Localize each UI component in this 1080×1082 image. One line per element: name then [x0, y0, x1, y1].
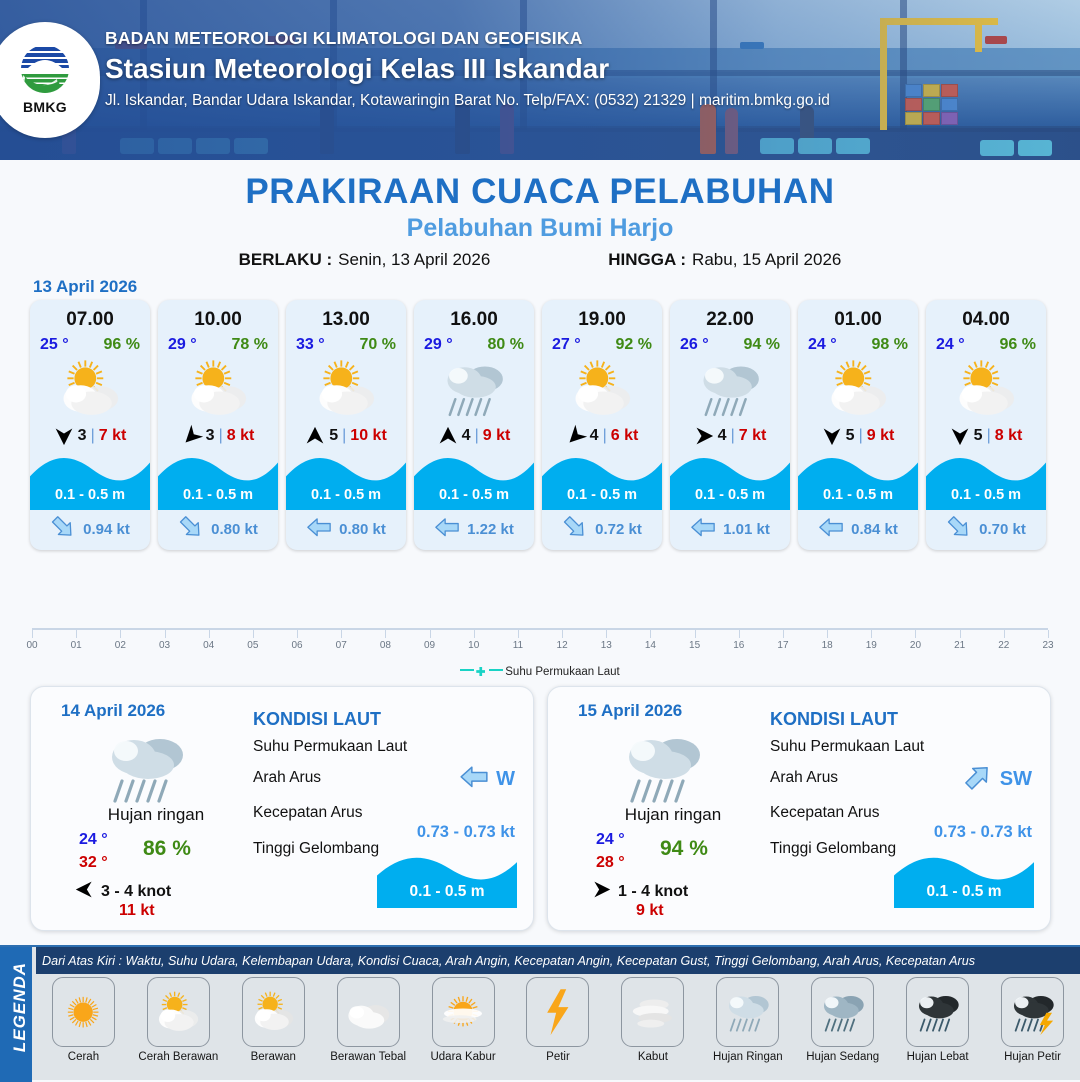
wave-height-value: 0.1 - 0.5 m — [926, 487, 1046, 503]
station-address: Jl. Iskandar, Bandar Udara Iskandar, Kot… — [105, 92, 830, 110]
current-speed-value: 0.70 kt — [979, 521, 1026, 538]
temp-hum-row: 24 ° 98 % — [798, 336, 918, 354]
current-direction-arrow-icon — [690, 517, 716, 542]
legend-item-label: Hujan Sedang — [806, 1051, 879, 1063]
legend-line — [489, 669, 503, 671]
forecast-time: 16.00 — [414, 309, 534, 331]
legend-item-label: Petir — [546, 1051, 570, 1063]
weather-condition-icon — [542, 358, 662, 420]
axis-tick — [253, 630, 254, 638]
legenda-title: LEGENDA — [10, 942, 30, 1072]
axis-tick-label: 06 — [291, 640, 302, 651]
forecast-card[interactable]: 22.00 26 ° 94 % 4 | 7 kt 0.1 - 0.5 m 1.0… — [670, 300, 790, 550]
day-wave-height-value: 0.1 - 0.5 m — [377, 883, 517, 901]
temp-hum-row: 27 ° 92 % — [542, 336, 662, 354]
wave-height-value: 0.1 - 0.5 m — [414, 487, 534, 503]
humidity-value: 96 % — [104, 336, 140, 354]
axis-tick-label: 12 — [557, 640, 568, 651]
legend-item: Berawan — [226, 977, 321, 1063]
day-gust-value: 9 kt — [636, 902, 664, 920]
day-current-direction-text: SW — [1000, 768, 1032, 791]
chart-legend: Suhu Permukaan Laut — [0, 666, 1080, 678]
current-direction-arrow-icon — [562, 517, 588, 542]
day-wind-row: 3 - 4 knot — [75, 880, 171, 904]
axis-tick-label: 07 — [336, 640, 347, 651]
temperature-value: 26 ° — [680, 336, 709, 354]
current-speed-value: 0.80 kt — [211, 521, 258, 538]
label-current-speed: Kecepatan Arus — [253, 804, 362, 822]
legend-icon-hujan-ringan — [716, 977, 779, 1047]
temp-hum-row: 29 ° 78 % — [158, 336, 278, 354]
humidity-value: 94 % — [744, 336, 780, 354]
temperature-value: 29 ° — [168, 336, 197, 354]
forecast-card[interactable]: 10.00 29 ° 78 % 3 | 8 kt 0.1 - 0.5 m 0.8… — [158, 300, 278, 550]
legend-icon-hujan-lebat — [906, 977, 969, 1047]
weather-condition-icon — [926, 358, 1046, 420]
legend-item-label: Udara Kabur — [430, 1051, 495, 1063]
legend-item: Hujan Petir — [985, 977, 1080, 1063]
header-text-block: BADAN METEOROLOGI KLIMATOLOGI DAN GEOFIS… — [105, 28, 830, 110]
current-speed-value: 1.01 kt — [723, 521, 770, 538]
legend-icon-udara-kabur — [432, 977, 495, 1047]
forecast-card[interactable]: 07.00 25 ° 96 % 3 | 7 kt 0.1 - 0.5 m 0.9… — [30, 300, 150, 550]
axis-tick-label: 23 — [1042, 640, 1053, 651]
day-current-arrow-icon — [459, 765, 489, 795]
wind-speed-value: 3 — [206, 427, 215, 445]
day-wind-direction-arrow-icon — [75, 880, 94, 904]
wind-speed-value: 5 — [846, 427, 855, 445]
temp-hum-row: 29 ° 80 % — [414, 336, 534, 354]
label-wave-height: Tinggi Gelombang — [253, 840, 379, 858]
wind-row: 4 | 6 kt — [542, 426, 662, 446]
forecast-time: 07.00 — [30, 309, 150, 331]
legend-item: Udara Kabur — [416, 977, 511, 1063]
legend-icon-hujan-petir — [1001, 977, 1064, 1047]
station-name: Stasiun Meteorologi Kelas III Iskandar — [105, 53, 830, 85]
separator: | — [603, 427, 607, 445]
wind-speed-value: 5 — [974, 427, 983, 445]
axis-tick-label: 08 — [380, 640, 391, 651]
current-direction-arrow-icon — [306, 517, 332, 542]
axis-tick — [474, 630, 475, 638]
wave-height-value: 0.1 - 0.5 m — [798, 487, 918, 503]
axis-tick — [341, 630, 342, 638]
legend-item-label: Berawan — [251, 1051, 296, 1063]
forecast-time: 04.00 — [926, 309, 1046, 331]
forecast-time: 22.00 — [670, 309, 790, 331]
axis-tick-label: 10 — [468, 640, 479, 651]
axis-tick-label: 04 — [203, 640, 214, 651]
forecast-time: 10.00 — [158, 309, 278, 331]
gust-value: 7 kt — [99, 427, 127, 445]
forecast-card[interactable]: 16.00 29 ° 80 % 4 | 9 kt 0.1 - 0.5 m 1.2… — [414, 300, 534, 550]
day-current-speed: 0.73 - 0.73 kt — [934, 823, 1032, 842]
legend-item-label: Berawan Tebal — [330, 1051, 406, 1063]
current-row: 1.22 kt — [414, 517, 534, 542]
forecast-card-row: 07.00 25 ° 96 % 3 | 7 kt 0.1 - 0.5 m 0.9… — [30, 300, 1050, 550]
legend-icon-petir — [526, 977, 589, 1047]
axis-tick-label: 14 — [645, 640, 656, 651]
legend-item: Hujan Ringan — [700, 977, 795, 1063]
day-panel: 15 April 2026 Hujan ringan 24 ° 28 ° 94 … — [547, 686, 1051, 931]
sst-marker-icon — [476, 667, 485, 676]
axis-tick — [871, 630, 872, 638]
legend-line — [460, 669, 474, 671]
weather-condition-icon — [158, 358, 278, 420]
current-speed-value: 0.84 kt — [851, 521, 898, 538]
axis-tick — [297, 630, 298, 638]
axis-tick-label: 13 — [601, 640, 612, 651]
forecast-time: 13.00 — [286, 309, 406, 331]
agency-name: BADAN METEOROLOGI KLIMATOLOGI DAN GEOFIS… — [105, 28, 830, 49]
wave-height-value: 0.1 - 0.5 m — [286, 487, 406, 503]
separator: | — [987, 427, 991, 445]
weather-condition-icon — [798, 358, 918, 420]
axis-tick — [827, 630, 828, 638]
humidity-value: 98 % — [872, 336, 908, 354]
legend-item: Cerah Berawan — [131, 977, 226, 1063]
wind-speed-value: 4 — [590, 427, 599, 445]
wind-row: 3 | 7 kt — [30, 426, 150, 446]
wind-direction-arrow-icon — [950, 426, 970, 446]
current-direction-arrow-icon — [178, 517, 204, 542]
wave-height-value: 0.1 - 0.5 m — [542, 487, 662, 503]
axis-tick — [120, 630, 121, 638]
temperature-value: 27 ° — [552, 336, 581, 354]
axis-tick — [650, 630, 651, 638]
temp-hum-row: 24 ° 96 % — [926, 336, 1046, 354]
legend-item-label: Cerah — [68, 1051, 99, 1063]
current-row: 0.80 kt — [286, 517, 406, 542]
legend-item-label: Hujan Ringan — [713, 1051, 783, 1063]
forecast-date-label: 13 April 2026 — [33, 277, 137, 297]
wind-row: 5 | 10 kt — [286, 426, 406, 446]
day-temp-min: 24 ° — [79, 831, 108, 849]
day-wave-height-value: 0.1 - 0.5 m — [894, 883, 1034, 901]
legend-item-label: Hujan Petir — [1004, 1051, 1061, 1063]
wind-speed-value: 4 — [718, 427, 727, 445]
day-wind-row: 1 - 4 knot — [592, 880, 688, 904]
current-speed-value: 0.72 kt — [595, 521, 642, 538]
current-row: 1.01 kt — [670, 517, 790, 542]
berlaku-label: BERLAKU : — [239, 250, 333, 269]
legend-icon-kabut — [621, 977, 684, 1047]
page-header: BMKG BADAN METEOROLOGI KLIMATOLOGI DAN G… — [0, 0, 1080, 160]
axis-tick — [76, 630, 77, 638]
weather-condition-icon — [414, 358, 534, 420]
axis-tick-label: 15 — [689, 640, 700, 651]
axis-tick-label: 01 — [71, 640, 82, 651]
legend-item: Kabut — [605, 977, 700, 1063]
axis-tick-label: 18 — [822, 640, 833, 651]
label-current-direction: Arah Arus — [253, 769, 321, 787]
legend-item: Petir — [511, 977, 606, 1063]
label-sst: Suhu Permukaan Laut — [253, 738, 407, 756]
legend-icon-berawan-tebal — [337, 977, 400, 1047]
label-current-speed: Kecepatan Arus — [770, 804, 879, 822]
gust-value: 8 kt — [227, 427, 255, 445]
legend-item-label: Kabut — [638, 1051, 668, 1063]
axis-tick-label: 05 — [247, 640, 258, 651]
wind-direction-arrow-icon — [438, 426, 458, 446]
axis-tick-label: 00 — [26, 640, 37, 651]
label-wave-height: Tinggi Gelombang — [770, 840, 896, 858]
page-title: PRAKIRAAN CUACA PELABUHAN — [0, 172, 1080, 212]
wind-row: 5 | 9 kt — [798, 426, 918, 446]
day-humidity: 94 % — [660, 837, 708, 861]
current-direction-arrow-icon — [946, 517, 972, 542]
legend-item-label: Hujan Lebat — [907, 1051, 969, 1063]
forecast-card[interactable]: 04.00 24 ° 96 % 5 | 8 kt 0.1 - 0.5 m 0.7… — [926, 300, 1046, 550]
axis-tick-label: 20 — [910, 640, 921, 651]
axis-tick-label: 22 — [998, 640, 1009, 651]
wave-height-value: 0.1 - 0.5 m — [158, 487, 278, 503]
bmkg-logo: BMKG — [0, 22, 100, 138]
temp-hum-row: 25 ° 96 % — [30, 336, 150, 354]
legend-item: Hujan Lebat — [890, 977, 985, 1063]
gust-value: 7 kt — [739, 427, 767, 445]
axis-tick-label: 21 — [954, 640, 965, 651]
separator: | — [342, 427, 346, 445]
legend-item: Hujan Sedang — [795, 977, 890, 1063]
axis-tick-label: 11 — [513, 640, 523, 651]
axis-tick — [915, 630, 916, 638]
label-sst: Suhu Permukaan Laut — [770, 738, 924, 756]
axis-tick — [739, 630, 740, 638]
day-current-speed: 0.73 - 0.73 kt — [417, 823, 515, 842]
temperature-value: 24 ° — [808, 336, 837, 354]
humidity-value: 80 % — [488, 336, 524, 354]
day-wind-direction-arrow-icon — [592, 880, 611, 904]
legend-item-row: Cerah Cerah Berawan Berawan Berawan Te — [36, 977, 1080, 1063]
wind-direction-arrow-icon — [182, 426, 202, 446]
separator: | — [475, 427, 479, 445]
axis-tick-label: 09 — [424, 640, 435, 651]
temperature-value: 29 ° — [424, 336, 453, 354]
temperature-value: 24 ° — [936, 336, 965, 354]
wind-row: 5 | 8 kt — [926, 426, 1046, 446]
day-temp-max: 32 ° — [79, 854, 108, 872]
humidity-value: 70 % — [360, 336, 396, 354]
sea-condition-header: KONDISI LAUT — [770, 709, 898, 730]
bmkg-logo-mark — [17, 45, 73, 97]
legend-item: Cerah — [36, 977, 131, 1063]
bmkg-logo-text: BMKG — [23, 99, 67, 115]
day-weather-icon — [96, 723, 188, 801]
axis-tick — [606, 630, 607, 638]
current-row: 0.70 kt — [926, 517, 1046, 542]
berlaku-value: Senin, 13 April 2026 — [338, 250, 490, 269]
axis-tick-label: 03 — [159, 640, 170, 651]
separator: | — [731, 427, 735, 445]
temperature-value: 25 ° — [40, 336, 69, 354]
wind-direction-arrow-icon — [822, 426, 842, 446]
axis-tick — [960, 630, 961, 638]
legend-note: Dari Atas Kiri : Waktu, Suhu Udara, Kele… — [36, 947, 1080, 974]
humidity-value: 78 % — [232, 336, 268, 354]
gust-value: 8 kt — [995, 427, 1023, 445]
axis-tick — [385, 630, 386, 638]
wind-speed-value: 5 — [329, 427, 338, 445]
wave-height-value: 0.1 - 0.5 m — [670, 487, 790, 503]
gust-value: 9 kt — [867, 427, 895, 445]
separator: | — [91, 427, 95, 445]
axis-tick — [1004, 630, 1005, 638]
sea-condition-header: KONDISI LAUT — [253, 709, 381, 730]
legend-icon-hujan-sedang — [811, 977, 874, 1047]
hingga-label: HINGGA : — [608, 250, 686, 269]
legend-item-label: Cerah Berawan — [138, 1051, 218, 1063]
axis-tick — [518, 630, 519, 638]
gust-value: 10 kt — [350, 427, 386, 445]
day-temp-max: 28 ° — [596, 854, 625, 872]
axis-tick — [1048, 630, 1049, 638]
day-temp-min: 24 ° — [596, 831, 625, 849]
gust-value: 9 kt — [483, 427, 511, 445]
hingga-group: HINGGA :Rabu, 15 April 2026 — [608, 250, 841, 270]
wind-speed-value: 3 — [78, 427, 87, 445]
day-gust-value: 11 kt — [119, 902, 155, 920]
legend-item: Berawan Tebal — [321, 977, 416, 1063]
forecast-card[interactable]: 01.00 24 ° 98 % 5 | 9 kt 0.1 - 0.5 m 0.8… — [798, 300, 918, 550]
separator: | — [859, 427, 863, 445]
chart-legend-label: Suhu Permukaan Laut — [505, 666, 619, 678]
axis-tick — [32, 630, 33, 638]
wave-height-value: 0.1 - 0.5 m — [30, 487, 150, 503]
hingga-value: Rabu, 15 April 2026 — [692, 250, 841, 269]
forecast-time: 01.00 — [798, 309, 918, 331]
forecast-time: 19.00 — [542, 309, 662, 331]
legend-icon-cerah-berawan — [147, 977, 210, 1047]
legend-bar: LEGENDA Dari Atas Kiri : Waktu, Suhu Uda… — [0, 945, 1080, 1080]
day-wind-range: 3 - 4 knot — [101, 883, 171, 901]
day-weather-icon — [613, 723, 705, 801]
day-wind-range: 1 - 4 knot — [618, 883, 688, 901]
axis-tick — [562, 630, 563, 638]
day-date: 14 April 2026 — [61, 701, 165, 721]
weather-condition-icon — [286, 358, 406, 420]
axis-tick — [430, 630, 431, 638]
forecast-card[interactable]: 13.00 33 ° 70 % 5 | 10 kt 0.1 - 0.5 m 0.… — [286, 300, 406, 550]
temperature-value: 33 ° — [296, 336, 325, 354]
forecast-card[interactable]: 19.00 27 ° 92 % 4 | 6 kt 0.1 - 0.5 m 0.7… — [542, 300, 662, 550]
humidity-value: 92 % — [616, 336, 652, 354]
day-condition-text: Hujan ringan — [548, 805, 798, 825]
legenda-sidebar: LEGENDA — [0, 947, 32, 1082]
current-direction-arrow-icon — [50, 517, 76, 542]
day-current-direction-text: W — [496, 768, 515, 791]
day-current-direction: W — [459, 765, 515, 795]
axis-tick-label: 19 — [866, 640, 877, 651]
validity-row: BERLAKU :Senin, 13 April 2026 HINGGA :Ra… — [0, 250, 1080, 270]
axis-tick — [165, 630, 166, 638]
current-direction-arrow-icon — [818, 517, 844, 542]
day-humidity: 86 % — [143, 837, 191, 861]
current-row: 0.94 kt — [30, 517, 150, 542]
current-speed-value: 1.22 kt — [467, 521, 514, 538]
humidity-value: 96 % — [1000, 336, 1036, 354]
berlaku-group: BERLAKU :Senin, 13 April 2026 — [239, 250, 491, 270]
wind-speed-value: 4 — [462, 427, 471, 445]
current-row: 0.80 kt — [158, 517, 278, 542]
wind-direction-arrow-icon — [566, 426, 586, 446]
day-current-direction: SW — [963, 765, 1032, 795]
label-current-direction: Arah Arus — [770, 769, 838, 787]
weather-condition-icon — [670, 358, 790, 420]
axis-tick-label: 16 — [733, 640, 744, 651]
temp-hum-row: 33 ° 70 % — [286, 336, 406, 354]
separator: | — [219, 427, 223, 445]
wind-row: 4 | 7 kt — [670, 426, 790, 446]
temp-hum-row: 26 ° 94 % — [670, 336, 790, 354]
axis-tick-label: 17 — [777, 640, 788, 651]
axis-tick-label: 02 — [115, 640, 126, 651]
weather-condition-icon — [30, 358, 150, 420]
day-panel: 14 April 2026 Hujan ringan 24 ° 32 ° 86 … — [30, 686, 534, 931]
axis-tick — [783, 630, 784, 638]
chart-axis-ticks: 00 01 02 03 04 05 06 07 08 09 10 11 12 1… — [32, 630, 1048, 660]
axis-tick — [209, 630, 210, 638]
day-date: 15 April 2026 — [578, 701, 682, 721]
current-row: 0.84 kt — [798, 517, 918, 542]
day-condition-text: Hujan ringan — [31, 805, 281, 825]
wind-direction-arrow-icon — [54, 426, 74, 446]
current-speed-value: 0.80 kt — [339, 521, 386, 538]
current-speed-value: 0.94 kt — [83, 521, 130, 538]
legend-icon-cerah — [52, 977, 115, 1047]
wind-direction-arrow-icon — [694, 426, 714, 446]
wind-direction-arrow-icon — [305, 426, 325, 446]
day-current-arrow-icon — [963, 765, 993, 795]
current-row: 0.72 kt — [542, 517, 662, 542]
legend-icon-berawan — [242, 977, 305, 1047]
gust-value: 6 kt — [611, 427, 639, 445]
axis-tick — [695, 630, 696, 638]
current-direction-arrow-icon — [434, 517, 460, 542]
page-subtitle: Pelabuhan Bumi Harjo — [0, 214, 1080, 243]
wind-row: 3 | 8 kt — [158, 426, 278, 446]
wind-row: 4 | 9 kt — [414, 426, 534, 446]
